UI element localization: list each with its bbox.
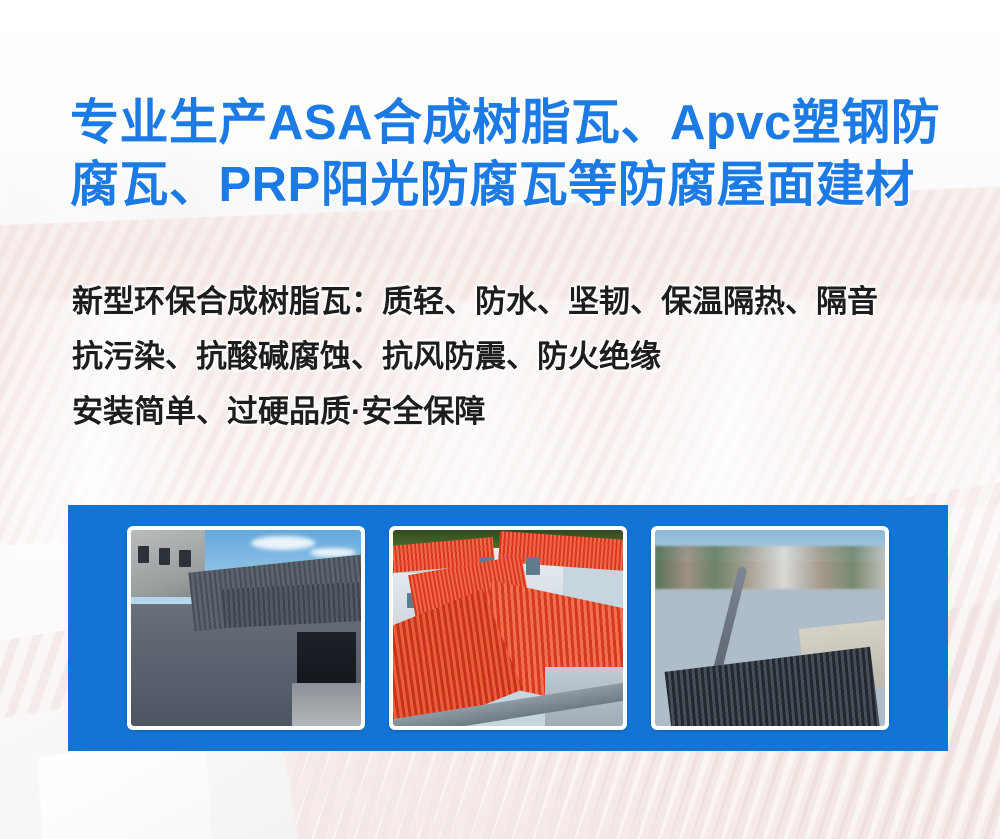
photo-card-2[interactable] bbox=[389, 526, 627, 730]
headline-line-2: 腐瓦、PRP阳光防腐瓦等防腐屋面建材 bbox=[70, 154, 950, 216]
photo2-window-3 bbox=[526, 557, 540, 575]
photo1-cloud-1 bbox=[251, 536, 315, 550]
gallery-panel bbox=[68, 505, 948, 751]
subcopy: 新型环保合成树脂瓦：质轻、防水、坚韧、保温隔热、隔音 抗污染、抗酸碱腐蚀、抗风防… bbox=[72, 274, 952, 439]
photo1-dark-opening bbox=[297, 632, 357, 691]
subcopy-line-1: 新型环保合成树脂瓦：质轻、防水、坚韧、保温隔热、隔音 bbox=[72, 274, 952, 329]
photo-grey-resin-tile-roof-closeup bbox=[131, 530, 361, 726]
subcopy-line-2: 抗污染、抗酸碱腐蚀、抗风防震、防火绝缘 bbox=[72, 329, 952, 384]
photo-card-3[interactable] bbox=[651, 526, 889, 730]
photo1-ground bbox=[292, 683, 361, 726]
photo1-window-1 bbox=[138, 546, 150, 564]
headline: 专业生产ASA合成树脂瓦、Apvc塑钢防 腐瓦、PRP阳光防腐瓦等防腐屋面建材 bbox=[70, 92, 950, 216]
subcopy-line-3: 安装简单、过硬品质·安全保障 bbox=[72, 384, 952, 439]
gallery-photo-row bbox=[68, 505, 948, 751]
photo-red-resin-tile-roof bbox=[393, 530, 623, 726]
photo-dark-grey-tile-roof-village bbox=[655, 530, 885, 726]
photo1-window-2 bbox=[159, 548, 171, 566]
photo1-window-3 bbox=[179, 550, 191, 568]
photo-card-1[interactable] bbox=[127, 526, 365, 730]
headline-line-1: 专业生产ASA合成树脂瓦、Apvc塑钢防 bbox=[70, 92, 950, 154]
product-banner: 专业生产ASA合成树脂瓦、Apvc塑钢防 腐瓦、PRP阳光防腐瓦等防腐屋面建材 … bbox=[0, 0, 1000, 839]
